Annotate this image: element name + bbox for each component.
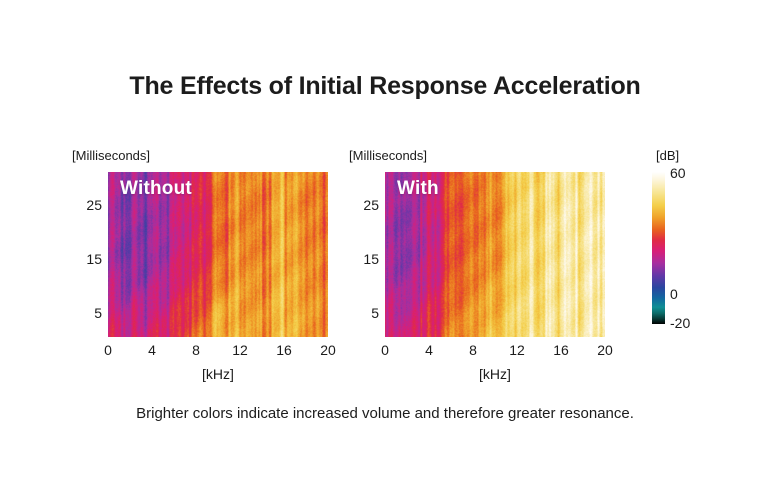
x-tick-12: 12 bbox=[504, 342, 530, 358]
colorbar-gradient bbox=[652, 172, 665, 324]
figure-caption: Brighter colors indicate increased volum… bbox=[0, 405, 770, 422]
x-tick-0: 0 bbox=[95, 342, 121, 358]
spectrogram-with[interactable] bbox=[385, 172, 605, 337]
y-axis-unit-label: [Milliseconds] bbox=[349, 148, 427, 163]
x-tick-8: 8 bbox=[460, 342, 486, 358]
y-tick-5: 5 bbox=[72, 305, 102, 321]
x-tick-12: 12 bbox=[227, 342, 253, 358]
x-tick-4: 4 bbox=[416, 342, 442, 358]
y-tick-25: 25 bbox=[349, 197, 379, 213]
colorbar-tick-neg20: -20 bbox=[670, 315, 690, 331]
x-tick-16: 16 bbox=[271, 342, 297, 358]
spectrogram-canvas bbox=[385, 172, 605, 337]
colorbar-tick-60: 60 bbox=[670, 165, 686, 181]
x-axis-title: [kHz] bbox=[385, 366, 605, 382]
y-tick-25: 25 bbox=[72, 197, 102, 213]
x-tick-16: 16 bbox=[548, 342, 574, 358]
spectrogram-canvas bbox=[108, 172, 328, 337]
spectrogram-without[interactable] bbox=[108, 172, 328, 337]
x-tick-0: 0 bbox=[372, 342, 398, 358]
x-tick-4: 4 bbox=[139, 342, 165, 358]
figure-root: The Effects of Initial Response Accelera… bbox=[0, 0, 770, 500]
y-axis-unit-label: [Milliseconds] bbox=[72, 148, 150, 163]
x-axis-title: [kHz] bbox=[108, 366, 328, 382]
x-tick-20: 20 bbox=[315, 342, 341, 358]
y-tick-15: 15 bbox=[349, 251, 379, 267]
x-tick-20: 20 bbox=[592, 342, 618, 358]
y-tick-5: 5 bbox=[349, 305, 379, 321]
colorbar-tick-0: 0 bbox=[670, 286, 678, 302]
colorbar-unit-label: [dB] bbox=[656, 148, 679, 163]
page-title: The Effects of Initial Response Accelera… bbox=[0, 72, 770, 101]
x-tick-8: 8 bbox=[183, 342, 209, 358]
y-tick-15: 15 bbox=[72, 251, 102, 267]
